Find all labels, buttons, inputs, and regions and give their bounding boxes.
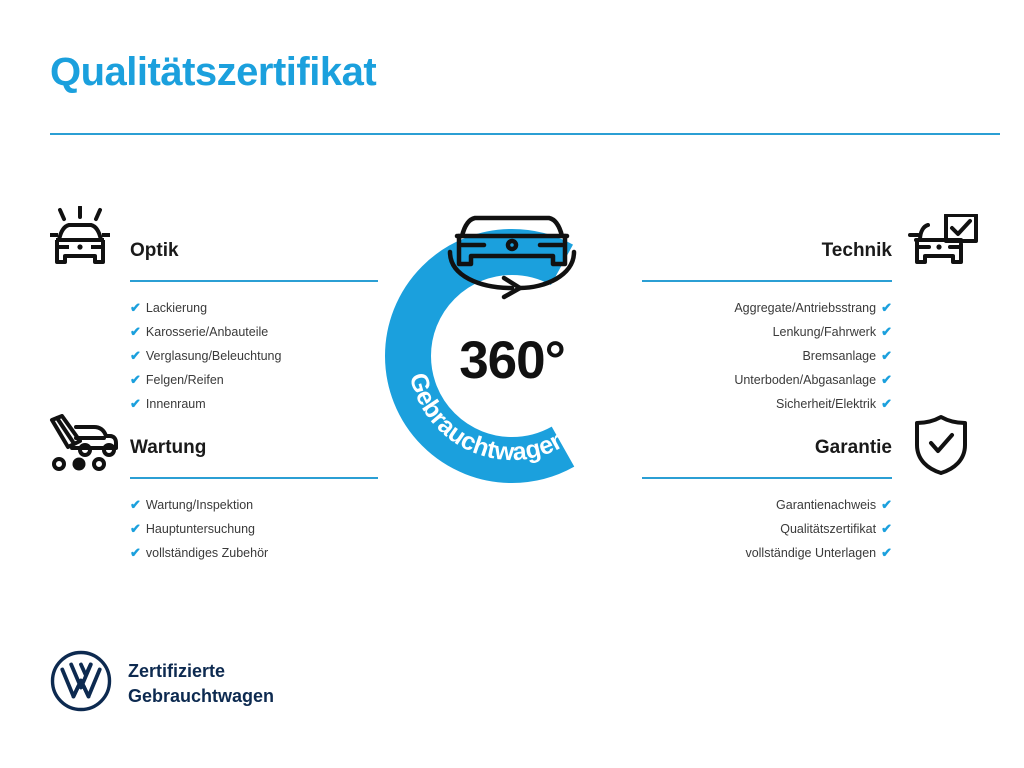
list-item-label: Verglasung/Beleuchtung: [146, 349, 282, 363]
section-wartung-head: Wartung: [130, 437, 378, 479]
check-icon: ✔: [130, 521, 141, 536]
list-item-label: Hauptuntersuchung: [146, 522, 255, 536]
list-item: Garantienachweis✔: [642, 493, 892, 517]
vw-wordmark-line1: Zertifizierte: [128, 661, 225, 681]
list-item-label: Lackierung: [146, 301, 207, 315]
list-item-label: Qualitätszertifikat: [780, 522, 876, 536]
list-item-label: Innenraum: [146, 397, 206, 411]
list-item: ✔Felgen/Reifen: [130, 368, 378, 392]
check-icon: ✔: [130, 324, 141, 339]
section-garantie-head: Garantie: [642, 437, 892, 479]
section-optik-list: ✔Lackierung ✔Karosserie/Anbauteile ✔Verg…: [130, 296, 378, 416]
section-wartung-list: ✔Wartung/Inspektion ✔Hauptuntersuchung ✔…: [130, 493, 378, 565]
section-garantie-title: Garantie: [642, 437, 892, 459]
vw-wordmark: ZertifizierteGebrauchtwagen: [128, 659, 274, 709]
section-optik-head: Optik: [130, 240, 378, 282]
section-technik-underline: [642, 280, 892, 282]
list-item-label: Felgen/Reifen: [146, 373, 224, 387]
section-optik: Optik ✔Lackierung ✔Karosserie/Anbauteile…: [130, 240, 378, 416]
list-item: ✔Innenraum: [130, 392, 378, 416]
section-garantie-list: Garantienachweis✔ Qualitätszertifikat✔ v…: [642, 493, 892, 565]
check-icon: ✔: [130, 372, 141, 387]
list-item: Lenkung/Fahrwerk✔: [642, 320, 892, 344]
list-item-label: Karosserie/Anbauteile: [146, 325, 268, 339]
check-icon: ✔: [130, 348, 141, 363]
vw-logo-icon: [50, 650, 112, 717]
list-item-label: Sicherheit/Elektrik: [776, 397, 876, 411]
list-item-label: Unterboden/Abgasanlage: [734, 373, 876, 387]
check-icon: ✔: [130, 497, 141, 512]
page-title: Qualitätszertifikat: [50, 52, 376, 92]
list-item: Sicherheit/Elektrik✔: [642, 392, 892, 416]
list-item-label: Bremsanlage: [802, 349, 876, 363]
list-item: ✔Lackierung: [130, 296, 378, 320]
section-technik: Technik Aggregate/Antriebsstrang✔ Lenkun…: [642, 240, 892, 416]
section-technik-title: Technik: [642, 240, 892, 262]
list-item: ✔Hauptuntersuchung: [130, 517, 378, 541]
list-item: Bremsanlage✔: [642, 344, 892, 368]
car-shine-icon: [46, 206, 116, 277]
check-icon: ✔: [881, 396, 892, 411]
check-icon: ✔: [130, 396, 141, 411]
section-garantie: Garantie Garantienachweis✔ Qualitätszert…: [642, 437, 892, 565]
check-icon: ✔: [881, 545, 892, 560]
section-wartung: Wartung ✔Wartung/Inspektion ✔Hauptunters…: [130, 437, 378, 565]
badge-number: 360°: [372, 330, 652, 391]
check-icon: ✔: [881, 300, 892, 315]
shield-check-icon: [912, 414, 970, 481]
list-item-label: Lenkung/Fahrwerk: [773, 325, 877, 339]
section-technik-list: Aggregate/Antriebsstrang✔ Lenkung/Fahrwe…: [642, 296, 892, 416]
badge-360-gebrauchtwagen-check: Gebrauchtwagen-Check 360°: [372, 196, 652, 486]
check-icon: ✔: [881, 497, 892, 512]
section-garantie-underline: [642, 477, 892, 479]
check-icon: ✔: [881, 372, 892, 387]
section-optik-underline: [130, 280, 378, 282]
service-log-pen-car-icon: [46, 414, 120, 479]
check-icon: ✔: [130, 300, 141, 315]
check-icon: ✔: [881, 348, 892, 363]
list-item: Qualitätszertifikat✔: [642, 517, 892, 541]
section-optik-title: Optik: [130, 240, 378, 262]
check-icon: ✔: [881, 521, 892, 536]
vw-brand-lockup: ZertifizierteGebrauchtwagen: [50, 650, 274, 717]
list-item: ✔Wartung/Inspektion: [130, 493, 378, 517]
list-item-label: Garantienachweis: [776, 498, 876, 512]
list-item-label: vollständiges Zubehör: [146, 546, 268, 560]
list-item: Aggregate/Antriebsstrang✔: [642, 296, 892, 320]
car-checkbox-icon: [906, 214, 978, 277]
list-item: ✔Verglasung/Beleuchtung: [130, 344, 378, 368]
list-item: Unterboden/Abgasanlage✔: [642, 368, 892, 392]
list-item-label: Wartung/Inspektion: [146, 498, 253, 512]
list-item-label: Aggregate/Antriebsstrang: [734, 301, 876, 315]
vw-wordmark-line2: Gebrauchtwagen: [128, 686, 274, 706]
header-divider: [50, 133, 1000, 135]
list-item: vollständige Unterlagen✔: [642, 541, 892, 565]
list-item-label: vollständige Unterlagen: [745, 546, 876, 560]
section-wartung-underline: [130, 477, 378, 479]
section-wartung-title: Wartung: [130, 437, 378, 459]
section-technik-head: Technik: [642, 240, 892, 282]
list-item: ✔vollständiges Zubehör: [130, 541, 378, 565]
check-icon: ✔: [881, 324, 892, 339]
list-item: ✔Karosserie/Anbauteile: [130, 320, 378, 344]
check-icon: ✔: [130, 545, 141, 560]
